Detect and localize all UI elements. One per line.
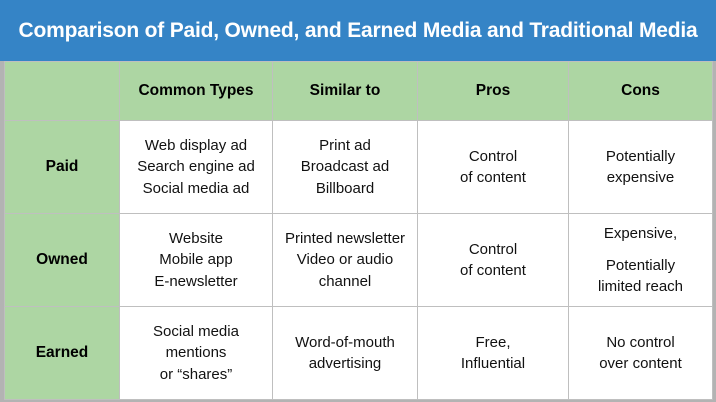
page-title: Comparison of Paid, Owned, and Earned Me… bbox=[19, 19, 698, 42]
cell-line: Printed newsletter bbox=[279, 228, 411, 249]
cell-owned-similar-to: Printed newsletter Video or audio channe… bbox=[273, 214, 418, 307]
cell-line: mentions bbox=[126, 342, 266, 363]
cell-line: of content bbox=[424, 167, 562, 188]
cell-line: Free, bbox=[424, 332, 562, 353]
cell-line: Billboard bbox=[279, 178, 411, 199]
column-header-similar-to: Similar to bbox=[273, 62, 418, 121]
cell-earned-cons: No control over content bbox=[569, 307, 713, 400]
cell-line: Search engine ad bbox=[126, 156, 266, 177]
column-header-common-types: Common Types bbox=[120, 62, 273, 121]
cell-line: or “shares” bbox=[126, 364, 266, 385]
cell-line: of content bbox=[424, 260, 562, 281]
comparison-table: Common Types Similar to Pros Cons Paid W… bbox=[4, 61, 713, 400]
column-header-blank bbox=[5, 62, 120, 121]
cell-line: Control bbox=[424, 146, 562, 167]
cell-line: expensive bbox=[575, 167, 706, 188]
cell-line: Broadcast ad bbox=[279, 156, 411, 177]
cell-line: Social media bbox=[126, 321, 266, 342]
cell-line: Influential bbox=[424, 353, 562, 374]
row-label-earned: Earned bbox=[5, 307, 120, 400]
cell-line: Word-of-mouth bbox=[279, 332, 411, 353]
cell-paid-pros: Control of content bbox=[418, 121, 569, 214]
row-label-owned: Owned bbox=[5, 214, 120, 307]
cell-earned-similar-to: Word-of-mouth advertising bbox=[273, 307, 418, 400]
cell-owned-common-types: Website Mobile app E-newsletter bbox=[120, 214, 273, 307]
cell-line: Expensive, bbox=[575, 223, 706, 244]
cell-line: Potentially bbox=[575, 146, 706, 167]
cell-line: advertising bbox=[279, 353, 411, 374]
cell-line: Mobile app bbox=[126, 249, 266, 270]
cell-line: over content bbox=[575, 353, 706, 374]
cell-owned-pros: Control of content bbox=[418, 214, 569, 307]
cell-line: Website bbox=[126, 228, 266, 249]
cell-earned-common-types: Social media mentions or “shares” bbox=[120, 307, 273, 400]
column-header-cons: Cons bbox=[569, 62, 713, 121]
cell-owned-cons: Expensive, Potentially limited reach bbox=[569, 214, 713, 307]
cell-line: Social media ad bbox=[126, 178, 266, 199]
table-row: Owned Website Mobile app E-newsletter Pr… bbox=[5, 214, 713, 307]
cell-paid-cons: Potentially expensive bbox=[569, 121, 713, 214]
cell-line: channel bbox=[279, 271, 411, 292]
cell-line: Web display ad bbox=[126, 135, 266, 156]
cell-paid-common-types: Web display ad Search engine ad Social m… bbox=[120, 121, 273, 214]
cell-line: Potentially bbox=[575, 255, 706, 276]
table-row: Earned Social media mentions or “shares”… bbox=[5, 307, 713, 400]
table-header-row: Common Types Similar to Pros Cons bbox=[5, 62, 713, 121]
cell-line: E-newsletter bbox=[126, 271, 266, 292]
cell-line: Print ad bbox=[279, 135, 411, 156]
row-label-paid: Paid bbox=[5, 121, 120, 214]
cell-paid-similar-to: Print ad Broadcast ad Billboard bbox=[273, 121, 418, 214]
table-row: Paid Web display ad Search engine ad Soc… bbox=[5, 121, 713, 214]
cell-line: No control bbox=[575, 332, 706, 353]
column-header-pros: Pros bbox=[418, 62, 569, 121]
cell-line: Control bbox=[424, 239, 562, 260]
title-bar: Comparison of Paid, Owned, and Earned Me… bbox=[0, 0, 716, 61]
cell-line: Video or audio bbox=[279, 249, 411, 270]
cell-earned-pros: Free, Influential bbox=[418, 307, 569, 400]
cell-line: limited reach bbox=[575, 276, 706, 297]
comparison-infographic: Comparison of Paid, Owned, and Earned Me… bbox=[0, 0, 716, 402]
